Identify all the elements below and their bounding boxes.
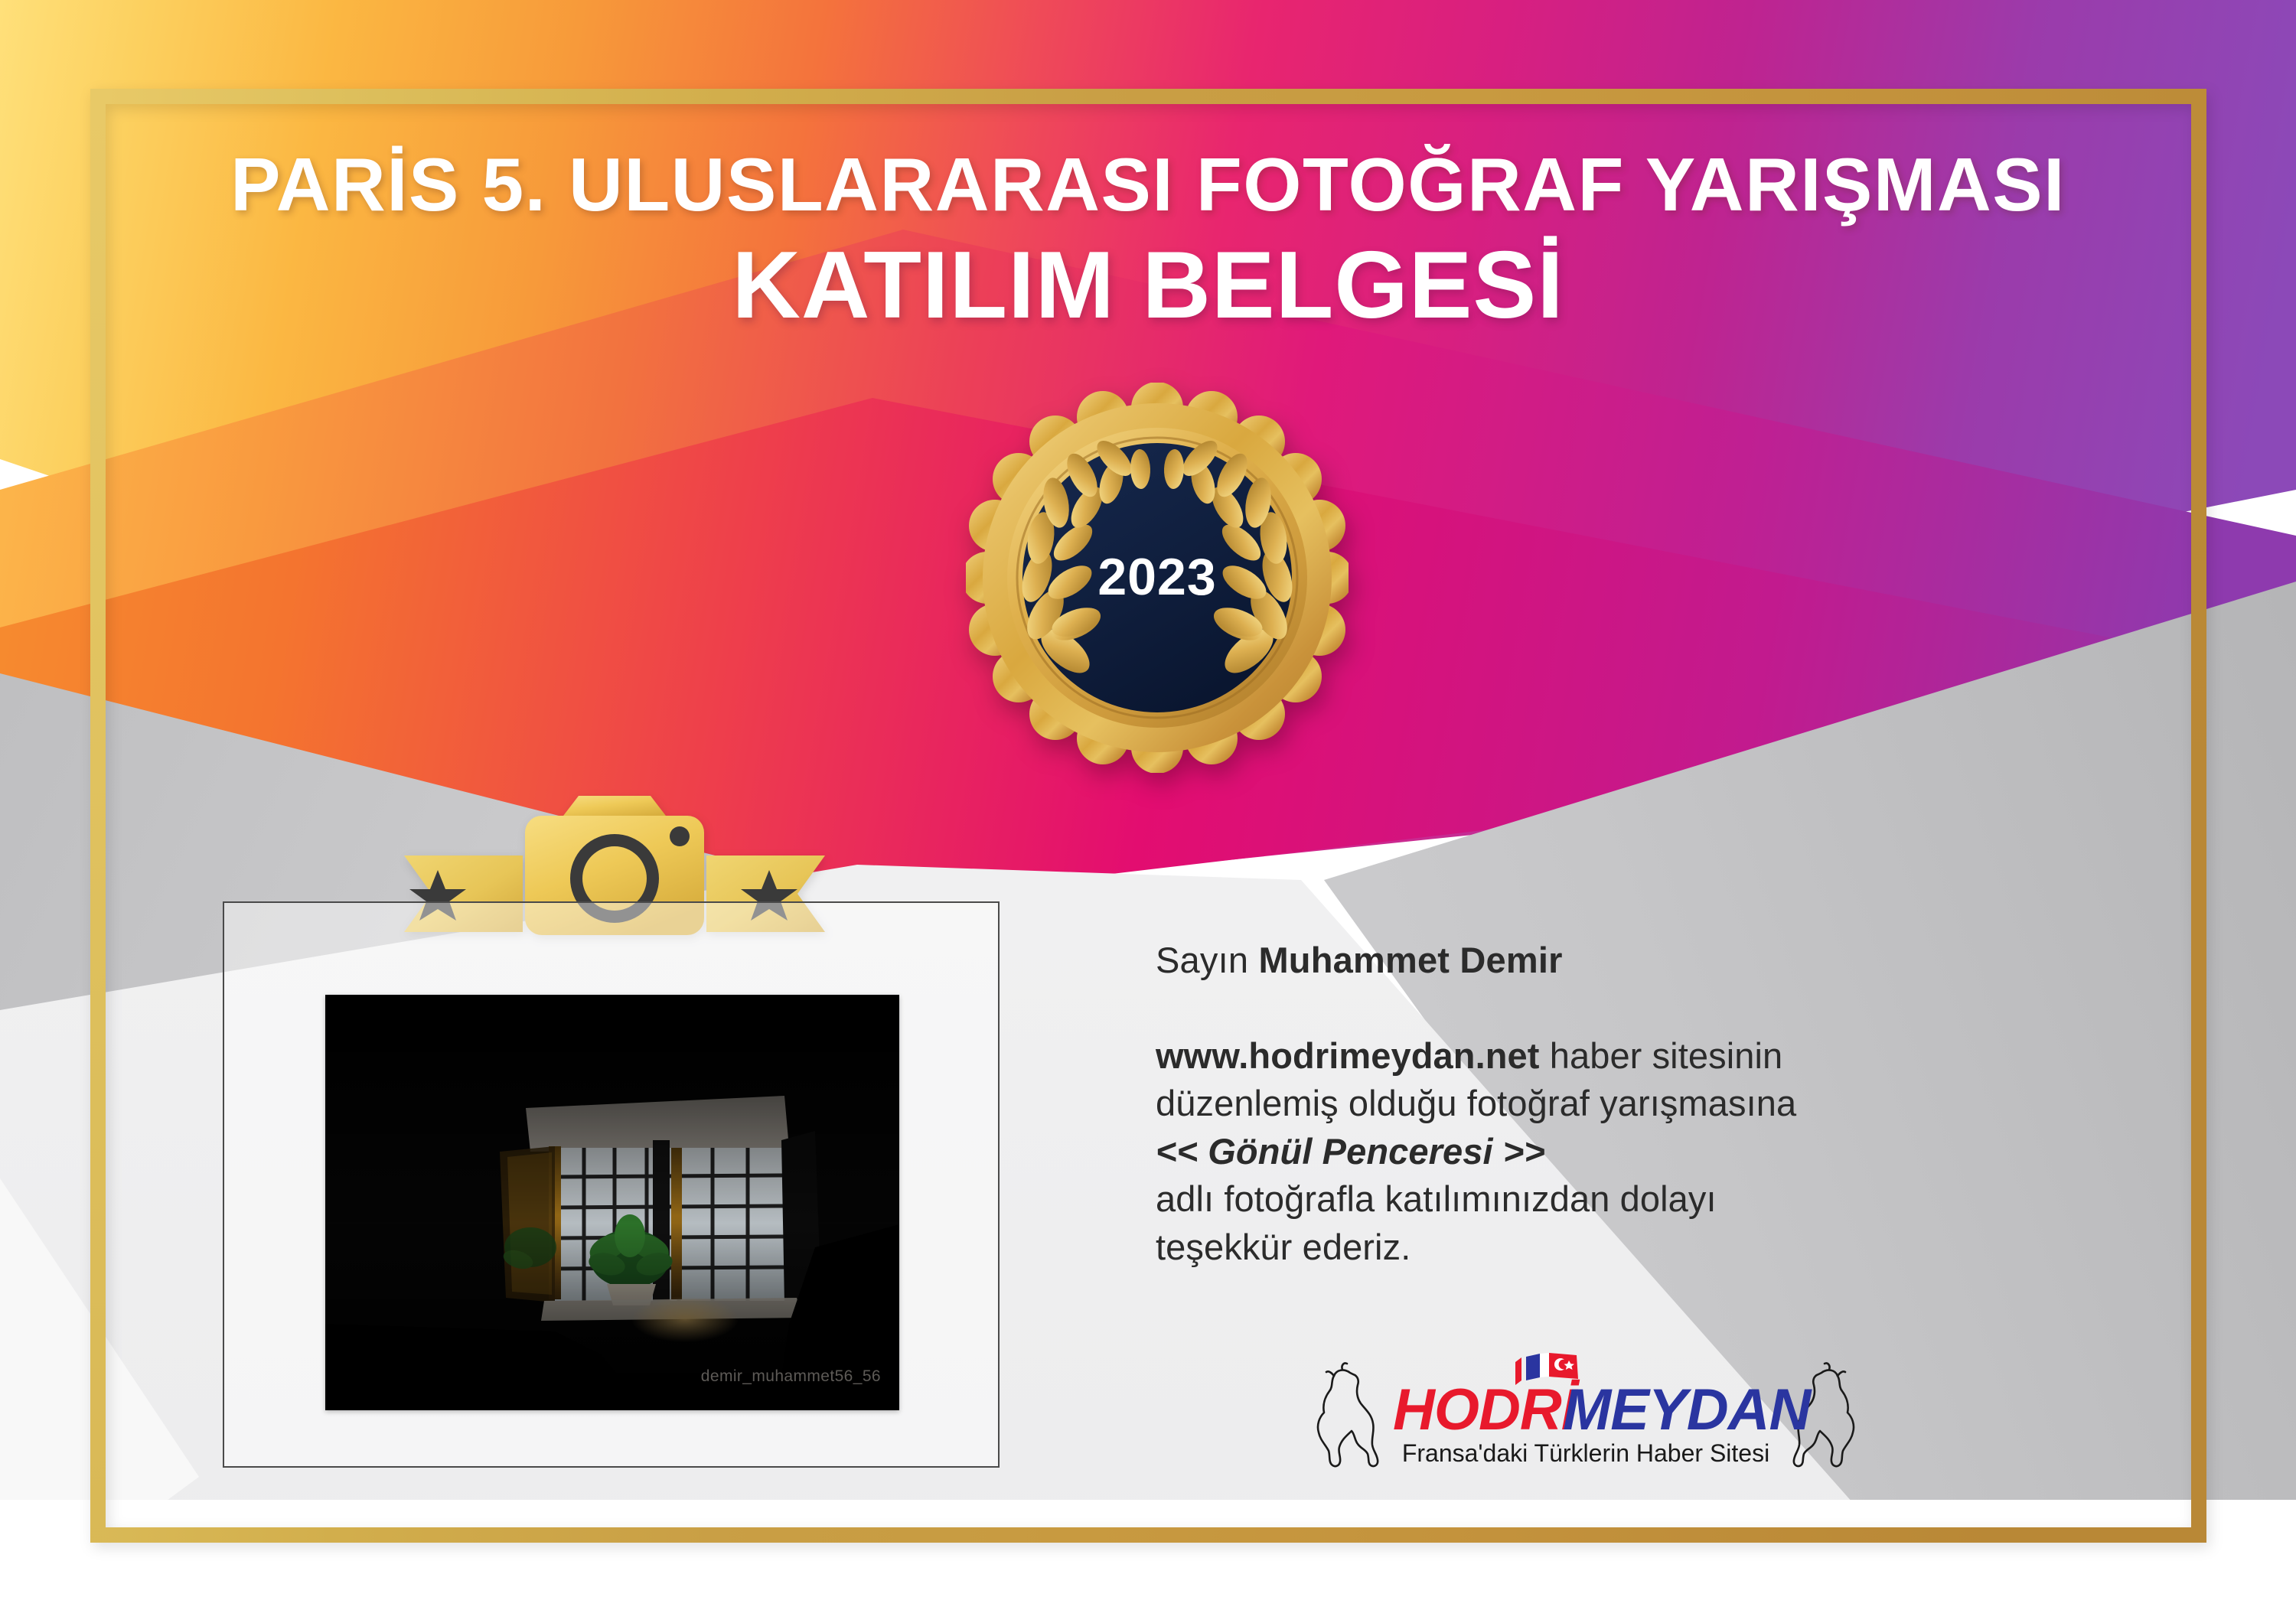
photo-illustration xyxy=(325,995,899,1410)
publisher-logo: HODRİ MEYDAN Fransa'daki Türklerin Haber… xyxy=(1310,1347,1861,1484)
award-medal: 2023 2023 xyxy=(966,383,1349,773)
message-line2: düzenlemiş olduğu fotoğraf yarışmasına xyxy=(1156,1083,1796,1123)
rearing-horse-left-icon xyxy=(1318,1363,1378,1466)
message-line5: teşekkür ederiz. xyxy=(1156,1227,1411,1267)
message-line1-rest: haber sitesinin xyxy=(1540,1035,1783,1076)
site-name-link[interactable]: www.hodrimeydan.net xyxy=(1156,1035,1540,1076)
certificate-page: PARİS 5. ULUSLARARASI FOTOĞRAF YARIŞMASI… xyxy=(0,0,2296,1623)
salutation-prefix: Sayın xyxy=(1156,940,1258,980)
logo-word-hodri: HODRİ xyxy=(1393,1377,1580,1442)
logo-word-meydan: MEYDAN xyxy=(1563,1377,1812,1442)
message-body: www.hodrimeydan.net haber sitesinin düze… xyxy=(1156,1032,2120,1272)
logo-tagline: Fransa'daki Türklerin Haber Sitesi xyxy=(1402,1439,1769,1467)
medal-seal-icon: 2023 xyxy=(966,383,1349,773)
message-line4: adlı fotoğrafla katılımınızdan dolayı xyxy=(1156,1178,1717,1219)
submitted-photo: demir_muhammet56_56 xyxy=(325,995,899,1410)
certificate-message: Sayın Muhammet Demir www.hodrimeydan.net… xyxy=(1156,938,2120,1271)
photo-watermark: demir_muhammet56_56 xyxy=(701,1367,881,1386)
salutation-line: Sayın Muhammet Demir xyxy=(1156,938,2120,983)
photo-title: << Gönül Penceresi >> xyxy=(1156,1128,2120,1176)
recipient-name: Muhammet Demir xyxy=(1258,940,1562,980)
svg-text:2023: 2023 xyxy=(1097,548,1216,606)
